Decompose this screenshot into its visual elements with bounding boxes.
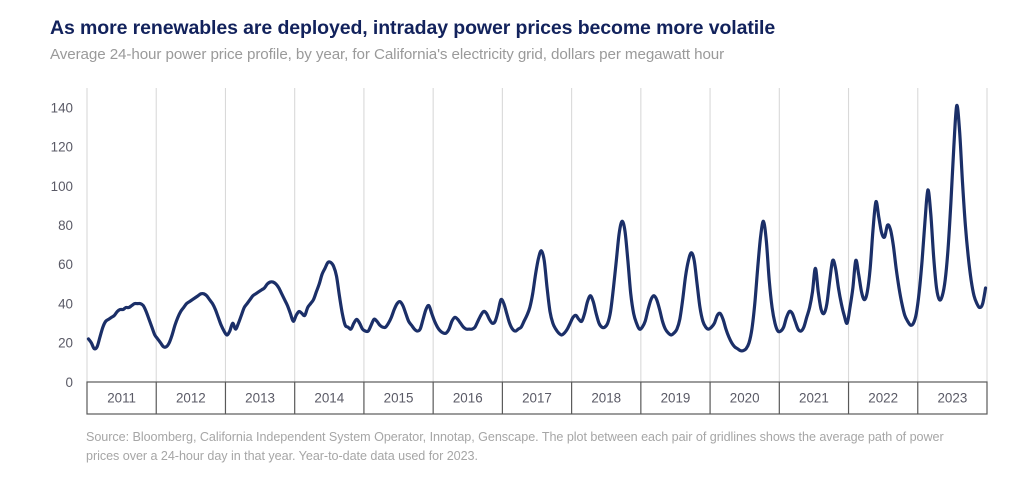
x-axis-year-label: 2015 xyxy=(384,391,414,406)
x-axis-year-label: 2018 xyxy=(591,391,621,406)
chart-svg: 020406080100120140 201120122013201420152… xyxy=(0,0,1036,492)
x-axis-labels: 2011201220132014201520162017201820192020… xyxy=(107,391,967,406)
x-axis-year-label: 2012 xyxy=(176,391,206,406)
x-axis-year-label: 2020 xyxy=(730,391,760,406)
y-axis-tick-label: 80 xyxy=(58,218,73,233)
x-axis-year-label: 2016 xyxy=(453,391,483,406)
price-series-line xyxy=(88,105,985,350)
x-axis-year-label: 2013 xyxy=(245,391,275,406)
y-axis-tick-label: 120 xyxy=(51,140,73,155)
x-axis-year-label: 2021 xyxy=(799,391,829,406)
y-axis-tick-label: 40 xyxy=(58,296,73,311)
y-axis-tick-label: 140 xyxy=(51,100,73,115)
y-axis-tick-label: 20 xyxy=(58,336,73,351)
x-axis-year-label: 2019 xyxy=(661,391,691,406)
price-profile-line xyxy=(88,105,985,350)
plot-area: 020406080100120140 201120122013201420152… xyxy=(0,0,1036,492)
gridlines xyxy=(87,88,987,382)
x-axis-year-label: 2023 xyxy=(937,391,967,406)
chart-figure: As more renewables are deployed, intrada… xyxy=(0,0,1036,492)
x-axis-year-label: 2017 xyxy=(522,391,552,406)
y-axis-tick-label: 0 xyxy=(66,375,73,390)
y-axis-tick-label: 60 xyxy=(58,257,73,272)
y-axis-tick-label: 100 xyxy=(51,179,73,194)
y-axis-ticks: 020406080100120140 xyxy=(51,100,73,389)
source-footnote: Source: Bloomberg, California Independen… xyxy=(86,428,966,466)
x-axis-year-label: 2014 xyxy=(314,391,344,406)
x-axis-year-label: 2011 xyxy=(107,391,136,406)
x-axis-year-label: 2022 xyxy=(868,391,898,406)
